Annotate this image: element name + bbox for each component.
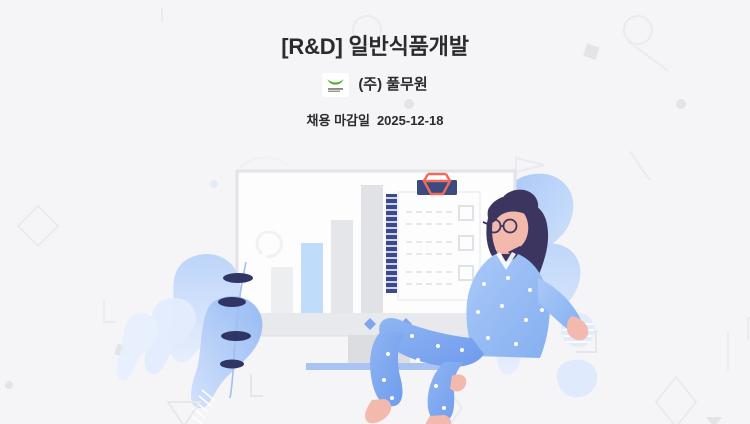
header: [R&D] 일반식품개발 (주) 풀무원 채용 마감일2025-12-18: [0, 0, 750, 129]
deadline-date: 2025-12-18: [377, 113, 444, 128]
berry: [218, 297, 246, 307]
shin: [428, 362, 464, 423]
illustration-woman-monitor-checklist: [0, 150, 750, 424]
company-name: (주) 풀무원: [358, 75, 427, 95]
checklist: [386, 174, 480, 300]
checklist-spiral-bar: [386, 194, 397, 293]
pulmuone-logo-icon: [322, 73, 349, 97]
deadline-label: 채용 마감일: [307, 113, 370, 128]
berry: [223, 273, 253, 283]
dot-icon: [210, 180, 218, 188]
berry: [221, 331, 251, 341]
ankle: [450, 374, 466, 391]
arc-icon: [240, 157, 288, 168]
leaf-blob-small: [557, 360, 598, 398]
berry: [220, 360, 244, 369]
job-posting-banner: [R&D] 일반식품개발 (주) 풀무원 채용 마감일2025-12-18: [0, 0, 750, 424]
foot: [424, 415, 451, 424]
foliage-left: [145, 254, 263, 424]
deadline: 채용 마감일2025-12-18: [0, 110, 750, 129]
page-title: [R&D] 일반식품개발: [0, 0, 750, 61]
company-row: (주) 풀무원: [0, 72, 750, 98]
foot: [365, 399, 391, 423]
